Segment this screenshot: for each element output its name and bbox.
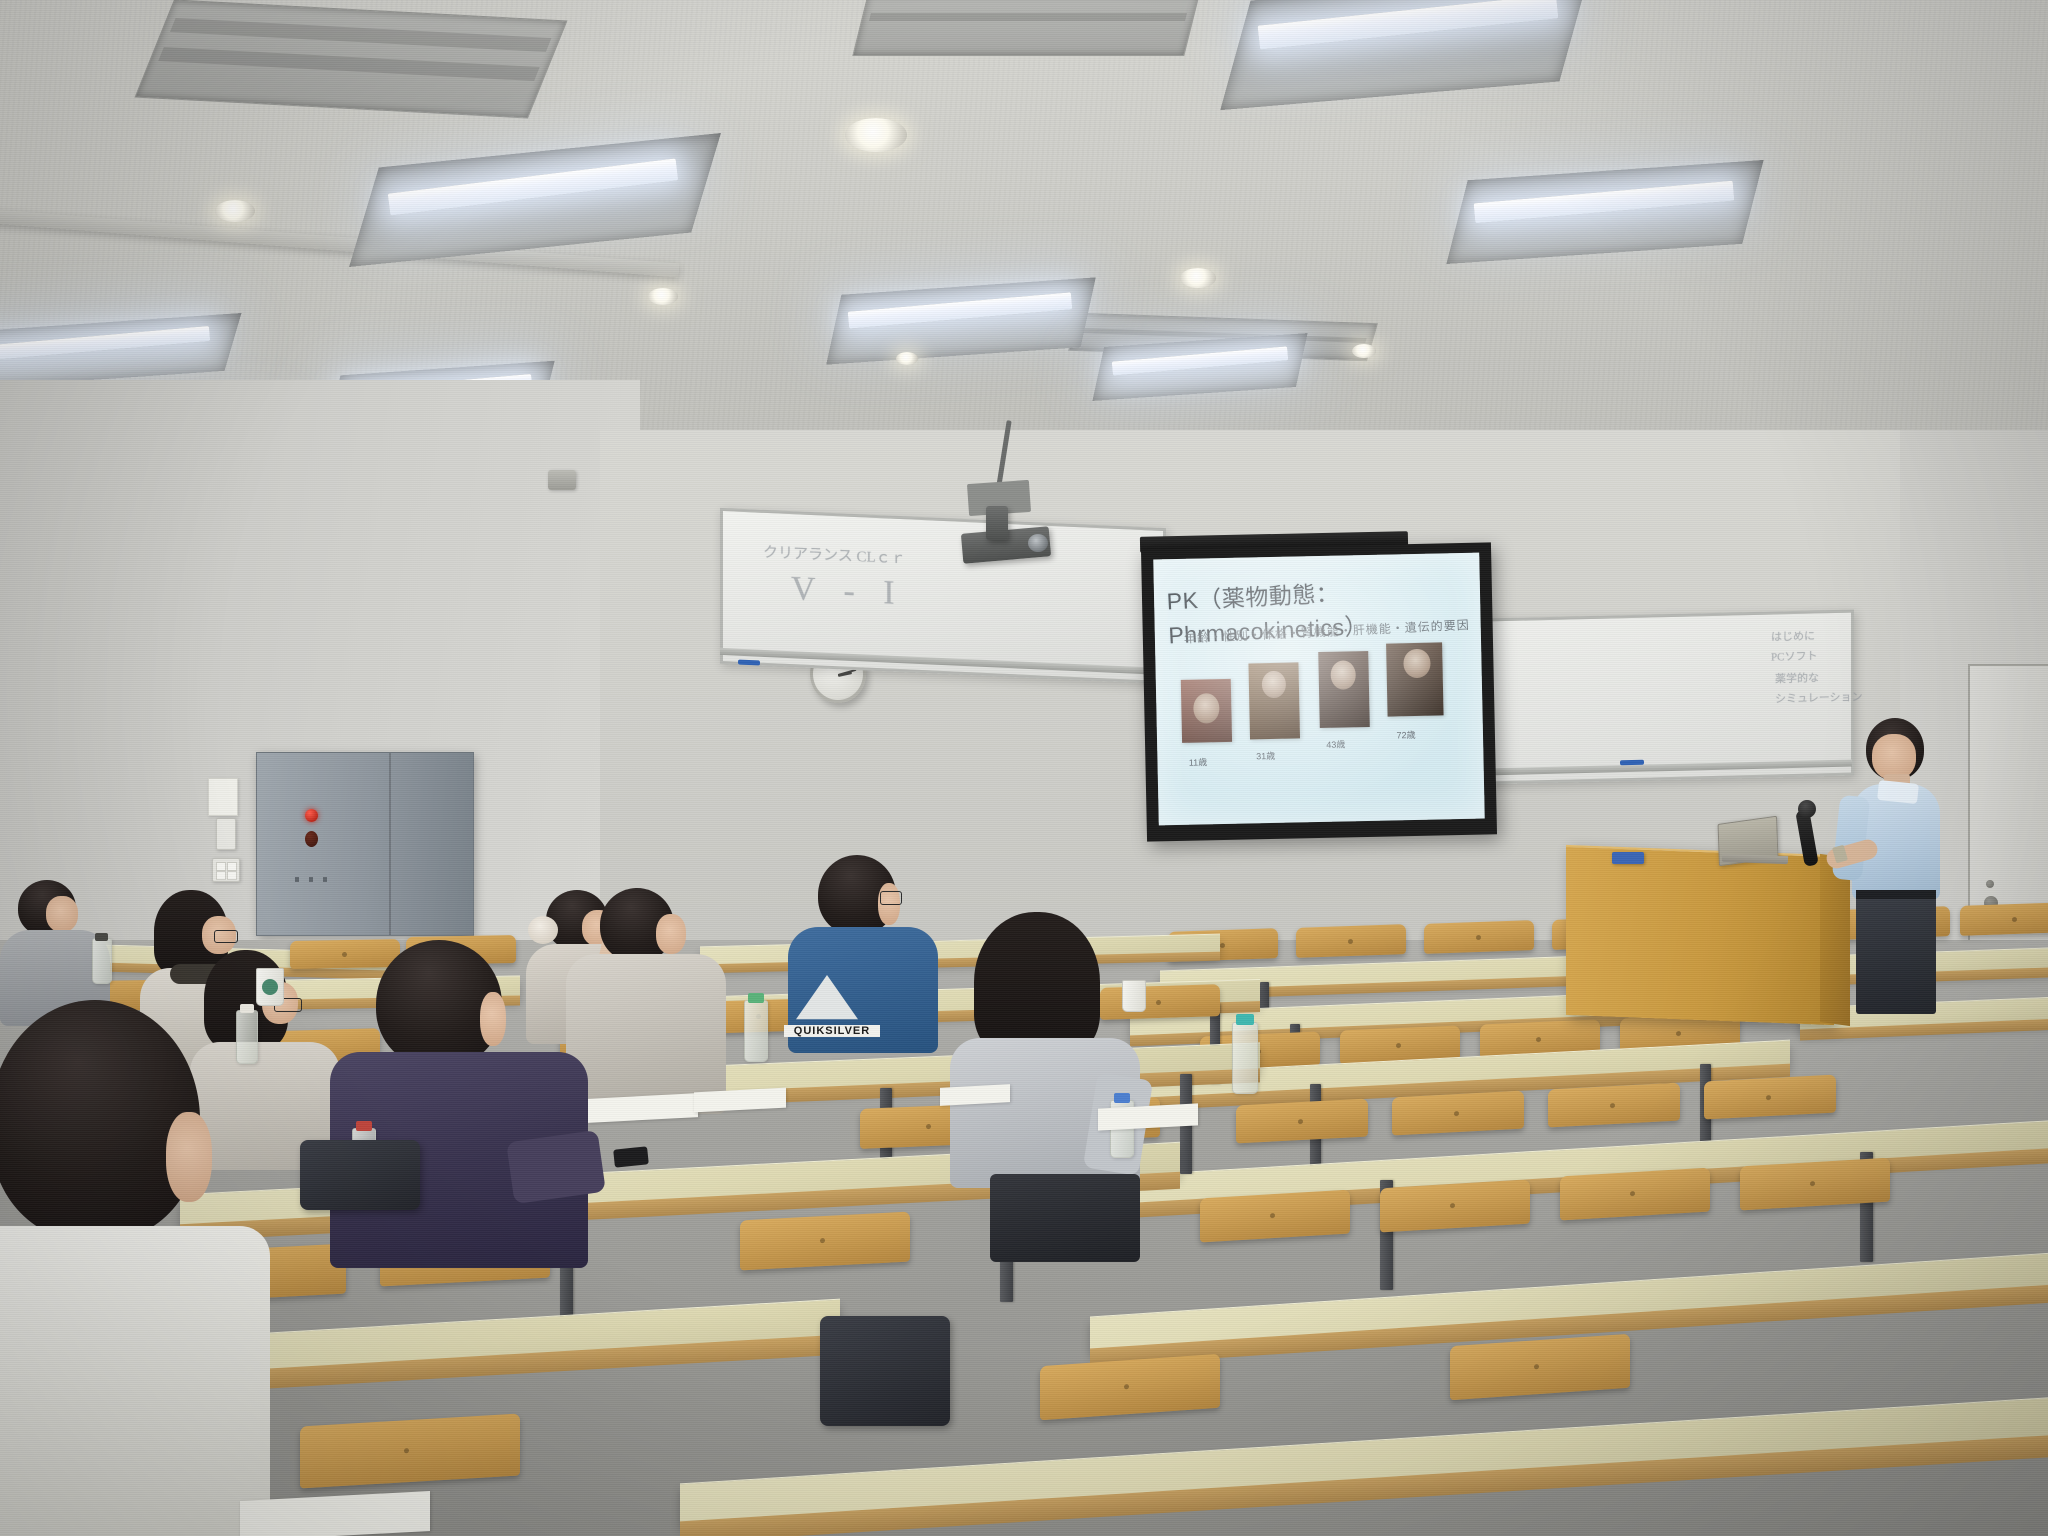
slide-photo-caption-2: 31歳	[1256, 749, 1275, 762]
wall-notice	[208, 778, 238, 816]
slide-photo-caption-3: 43歳	[1326, 737, 1345, 750]
student-1-face	[46, 896, 78, 932]
whiteboard-right-line4: シミュレーション	[1775, 688, 1863, 706]
microphone-head	[1798, 800, 1816, 818]
student-4	[330, 940, 600, 1270]
chair-far-right-2[interactable]	[1960, 902, 2048, 936]
ceiling-vent-center	[852, 0, 1199, 56]
student-9-face	[166, 1112, 212, 1202]
coffee-cup-2[interactable]	[1122, 980, 1146, 1012]
slide-photo-3	[1319, 651, 1370, 728]
chair-front-2[interactable]	[740, 1212, 910, 1271]
backpack-1[interactable]	[300, 1140, 420, 1210]
slide-photo-2	[1248, 662, 1299, 739]
water-bottle-1[interactable]	[744, 1000, 768, 1062]
panel-seam	[389, 753, 391, 935]
panel-screws	[295, 877, 335, 882]
cup-logo	[262, 979, 278, 995]
marker-blue	[738, 660, 760, 666]
whiteboard-right-line3: 薬学的な	[1775, 669, 1819, 686]
student-7-glasses	[880, 891, 902, 905]
student-8-hair	[974, 912, 1100, 1058]
downlight-3	[1180, 268, 1216, 288]
downlight-7	[896, 352, 918, 365]
whiteboard-right-line2: PCソフト	[1771, 647, 1817, 664]
lecture-hall-photo: クリアランス CLｃｒ V - I はじめに PCソフト 薬学的な シミュレーシ…	[0, 0, 2048, 1536]
student-8	[950, 912, 1150, 1212]
chair-bottom-right-1[interactable]	[1200, 1190, 1350, 1243]
water-bottle-3[interactable]	[236, 1010, 258, 1064]
downlight-2	[215, 200, 255, 222]
bottle-cap-blue	[1114, 1093, 1130, 1103]
lectern	[1566, 845, 1834, 1025]
ceiling-vent-left	[134, 0, 567, 119]
indicator-led-red	[305, 809, 318, 822]
slide-photo-4	[1386, 642, 1443, 717]
intercom-plate[interactable]	[216, 818, 236, 850]
chair-bottom-right-4[interactable]	[1740, 1158, 1890, 1211]
student-2-glasses	[214, 930, 238, 943]
downlight-1	[845, 118, 907, 152]
notebook-4[interactable]	[940, 1084, 1010, 1106]
bottle-cap-white	[240, 1004, 254, 1013]
slide-photo-caption-1: 11歳	[1189, 755, 1208, 768]
smartphone[interactable]	[613, 1146, 649, 1167]
presenter-collar	[1877, 780, 1919, 804]
door-lock[interactable]	[1986, 880, 1994, 888]
student-7: QUIKSILVER	[770, 855, 940, 1055]
presenter-belt	[1856, 890, 1936, 899]
whiteboard-left-line2: V - I	[791, 570, 905, 613]
slide-photo-1	[1181, 678, 1232, 743]
bottle-cap-dark	[95, 933, 108, 941]
student-8-skirt	[990, 1174, 1140, 1262]
chair-bottom-right-3[interactable]	[1560, 1168, 1710, 1221]
projector-arm	[986, 506, 1008, 540]
water-bottle-4[interactable]	[92, 938, 112, 984]
shirt-logo-text: QUIKSILVER	[784, 1025, 880, 1037]
chair-back-right-3[interactable]	[1424, 920, 1534, 954]
slide-photo-caption-4: 72歳	[1396, 728, 1415, 741]
bottle-cap-red	[356, 1121, 372, 1131]
chair-back-right-12[interactable]	[1548, 1083, 1680, 1128]
presenter-trousers	[1856, 894, 1936, 1014]
chair-back-right-13[interactable]	[1704, 1075, 1836, 1120]
chair-bottom-right-2[interactable]	[1380, 1180, 1530, 1233]
slide-photo-row: 11歳 31歳 43歳 72歳	[1175, 654, 1471, 782]
indicator-led-dark	[305, 831, 318, 847]
student-9-torso	[0, 1226, 270, 1536]
equipment-panel[interactable]	[256, 752, 474, 936]
marker-blue-2	[1620, 760, 1644, 766]
presenter	[1830, 718, 1950, 1018]
bottle-cap-teal	[1236, 1014, 1254, 1025]
student-5-face	[656, 914, 686, 954]
downlight-8	[1352, 344, 1376, 358]
student-4-face	[480, 992, 506, 1046]
coffee-cup-1[interactable]	[256, 968, 284, 1006]
blue-device[interactable]	[1612, 852, 1644, 864]
chair-back-right-10[interactable]	[1236, 1099, 1368, 1144]
whiteboard-right-line1: はじめに	[1771, 627, 1815, 644]
water-bottle-2[interactable]	[1232, 1022, 1258, 1094]
light-switch-plate[interactable]	[212, 858, 240, 882]
chair-back-right-2[interactable]	[1296, 924, 1406, 958]
bottle-cap-green	[748, 993, 764, 1003]
projector-lens	[1028, 534, 1048, 552]
downlight-4	[648, 288, 678, 305]
smoke-detector	[548, 470, 576, 490]
student-4-arm	[506, 1130, 606, 1204]
backpack-2[interactable]	[820, 1316, 950, 1426]
whiteboard-left-line1: クリアランス CLｃｒ	[763, 541, 906, 568]
chair-back-right-11[interactable]	[1392, 1091, 1524, 1136]
slide-content: PK（薬物動態：Phrmacokinetics） 年齢・性別・体格・腎機能・肝機…	[1153, 553, 1484, 826]
student-9	[0, 1000, 290, 1536]
chair-front-4[interactable]	[300, 1413, 520, 1488]
student-9-head	[0, 1000, 200, 1240]
